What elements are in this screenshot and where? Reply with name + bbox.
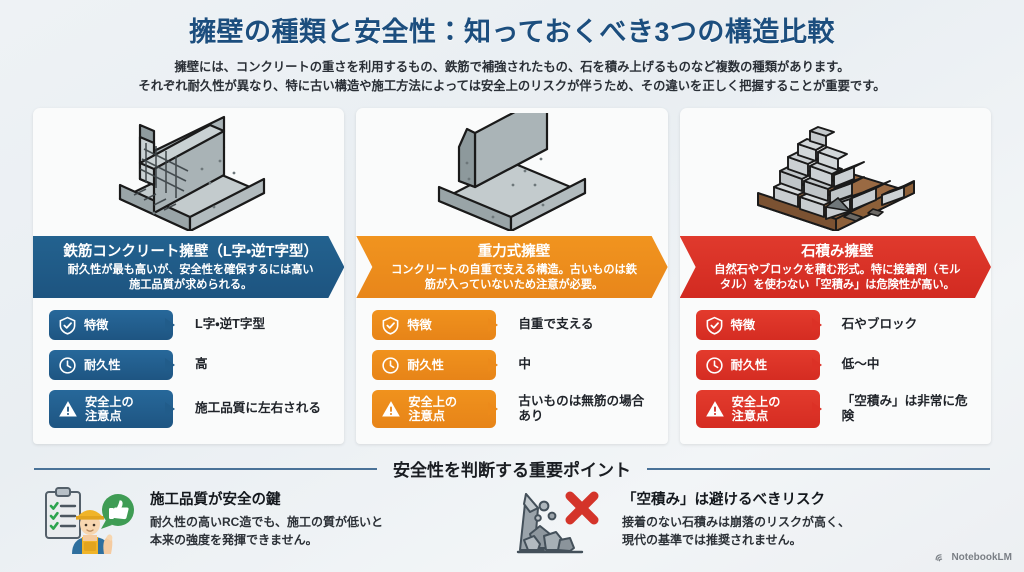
inspector-checklist-thumbsup-icon [40,482,136,560]
comparison-card-rc-wall[interactable]: 鉄筋コンクリート擁壁（L字・逆T字型） 耐久性が最も高いが、安全性を確保するには… [33,108,344,444]
banner-title: 重力式擁壁 [386,243,641,261]
notebooklm-icon [934,551,947,564]
attribute-rows-stone-wall: 特徴 石やブロック 耐久性 低〜中 安全上の 注意点 「空積み」は非常に危険 [680,298,991,444]
red-cross-icon [570,496,594,520]
clock-icon [58,356,77,375]
attribute-rows-gravity-wall: 特徴 自重で支える 耐久性 中 安全上の 注意点 古いものは無筋の場合あり [356,298,667,444]
comparison-card-gravity-wall[interactable]: 重力式擁壁 コンクリートの自重で支える構造。古いものは鉄筋が入っていないため注意… [356,108,667,444]
rc-retaining-wall-illustration [33,108,344,236]
attribute-row: 耐久性 低〜中 [696,350,977,380]
shield-check-icon [381,316,400,335]
gravity-retaining-wall-icon [417,113,607,231]
page-title: 擁壁の種類と安全性：知っておくべき3つの構造比較 [0,10,1024,49]
key-points: 施工品質が安全の鍵 耐久性の高いRC造でも、施工の質が低いと 本来の強度を発揮で… [0,482,1024,560]
inspector-checklist-illustration [40,482,136,560]
stone-retaining-wall-illustration [680,108,991,236]
attribute-label-safety-note: 安全上の 注意点 [696,390,820,428]
attribute-value: 施工品質に左右される [195,401,321,416]
attribute-row: 耐久性 高 [49,350,330,380]
attribute-label-safety-note: 安全上の 注意点 [49,390,173,428]
section-divider: 安全性を判断する重要ポイント [0,456,1024,481]
attribute-label-text: 特徴 [407,318,431,332]
notebooklm-watermark: NotebookLM [934,551,1012,564]
attribute-value: 中 [518,357,531,372]
page-subtitle-line1: 擁壁には、コンクリートの重さを利用するもの、鉄筋で補強されたもの、石を積み上げる… [0,58,1024,77]
page-subtitle: 擁壁には、コンクリートの重さを利用するもの、鉄筋で補強されたもの、石を積み上げる… [0,58,1024,96]
attribute-label-text: 安全上の 注意点 [732,395,781,424]
key-point-desc-line2: 現代の基準では推奨されません。 [622,531,850,549]
divider-line-left [34,468,377,470]
key-point-title: 施工品質が安全の鍵 [150,488,383,509]
banner-stone-wall: 石積み擁壁 自然石やブロックを積む形式。特に接着剤（モルタル）を使わない「空積み… [680,236,991,298]
banner-description: 自然石やブロックを積む形式。特に接着剤（モルタル）を使わない「空積み」は危険性が… [710,263,965,293]
attribute-label-text: 安全上の 注意点 [85,395,134,424]
key-point-dry-stacking-risk: 「空積み」は避けるべきリスク 接着のない石積みは崩落のリスクが高く、 現代の基準… [512,482,984,560]
banner-title: 石積み擁壁 [710,243,965,261]
banner-rc-wall: 鉄筋コンクリート擁壁（L字・逆T字型） 耐久性が最も高いが、安全性を確保するには… [33,236,344,298]
section-title: 安全性を判断する重要ポイント [393,456,631,481]
attribute-row: 安全上の 注意点 施工品質に左右される [49,390,330,428]
attribute-rows-rc-wall: 特徴 L字・逆T字型 耐久性 高 安全上の 注意点 施工品質に左右される [33,298,344,444]
warning-triangle-icon [381,399,401,419]
attribute-value: 自重で支える [518,317,593,332]
attribute-value: 「空積み」は非常に危険 [842,394,977,424]
warning-triangle-icon [705,399,725,419]
page-subtitle-line2: それぞれ耐久性が異なり、特に古い構造や施工方法によっては安全上のリスクが伴うため… [0,77,1024,96]
attribute-value: 低〜中 [842,357,880,372]
thumbs-up-bubble-icon [101,494,134,529]
gravity-retaining-wall-illustration [356,108,667,236]
attribute-label-durability: 耐久性 [49,350,173,380]
attribute-row: 安全上の 注意点 「空積み」は非常に危険 [696,390,977,428]
divider-line-right [647,468,990,470]
attribute-label-text: 特徴 [84,318,108,332]
attribute-row: 特徴 自重で支える [372,310,653,340]
comparison-columns: 鉄筋コンクリート擁壁（L字・逆T字型） 耐久性が最も高いが、安全性を確保するには… [33,108,991,444]
attribute-label-safety-note: 安全上の 注意点 [372,390,496,428]
attribute-value: 古いものは無筋の場合あり [518,394,653,424]
shield-check-icon [58,316,77,335]
key-point-title: 「空積み」は避けるべきリスク [622,488,850,509]
attribute-label-durability: 耐久性 [372,350,496,380]
page-header: 擁壁の種類と安全性：知っておくべき3つの構造比較 擁壁には、コンクリートの重さを… [0,0,1024,96]
attribute-label-text: 耐久性 [407,358,444,372]
key-point-text: 施工品質が安全の鍵 耐久性の高いRC造でも、施工の質が低いと 本来の強度を発揮で… [150,482,383,549]
key-point-desc-line2: 本来の強度を発揮できません。 [150,531,383,549]
clock-icon [381,356,400,375]
stone-retaining-wall-icon [740,113,930,231]
key-point-desc-line1: 耐久性の高いRC造でも、施工の質が低いと [150,513,383,531]
attribute-label-text: 特徴 [731,318,755,332]
attribute-label-text: 耐久性 [731,358,768,372]
attribute-row: 耐久性 中 [372,350,653,380]
banner-title: 鉄筋コンクリート擁壁（L字・逆T字型） [63,243,318,261]
attribute-value: L字・逆T字型 [195,317,265,332]
banner-gravity-wall: 重力式擁壁 コンクリートの自重で支える構造。古いものは鉄筋が入っていないため注意… [356,236,667,298]
rockfall-danger-illustration [512,482,608,560]
clock-icon [705,356,724,375]
shield-check-icon [705,316,724,335]
clipboard-icon [46,488,80,538]
key-point-text: 「空積み」は避けるべきリスク 接着のない石積みは崩落のリスクが高く、 現代の基準… [622,482,850,549]
key-point-desc-line1: 接着のない石積みは崩落のリスクが高く、 [622,513,850,531]
attribute-row: 特徴 L字・逆T字型 [49,310,330,340]
attribute-row: 特徴 石やブロック [696,310,977,340]
attribute-label-feature: 特徴 [49,310,173,340]
attribute-value: 石やブロック [842,317,918,332]
rockfall-danger-icon [512,482,608,560]
banner-description: 耐久性が最も高いが、安全性を確保するには高い施工品質が求められる。 [63,263,318,293]
attribute-label-feature: 特徴 [372,310,496,340]
watermark-label: NotebookLM [951,552,1012,563]
key-point-construction-quality: 施工品質が安全の鍵 耐久性の高いRC造でも、施工の質が低いと 本来の強度を発揮で… [40,482,512,560]
rc-retaining-wall-icon [94,113,284,231]
warning-triangle-icon [58,399,78,419]
attribute-label-text: 安全上の 注意点 [408,395,457,424]
attribute-label-durability: 耐久性 [696,350,820,380]
comparison-card-stone-wall[interactable]: 石積み擁壁 自然石やブロックを積む形式。特に接着剤（モルタル）を使わない「空積み… [680,108,991,444]
attribute-row: 安全上の 注意点 古いものは無筋の場合あり [372,390,653,428]
attribute-label-text: 耐久性 [84,358,121,372]
attribute-value: 高 [195,357,208,372]
banner-description: コンクリートの自重で支える構造。古いものは鉄筋が入っていないため注意が必要。 [386,263,641,293]
attribute-label-feature: 特徴 [696,310,820,340]
